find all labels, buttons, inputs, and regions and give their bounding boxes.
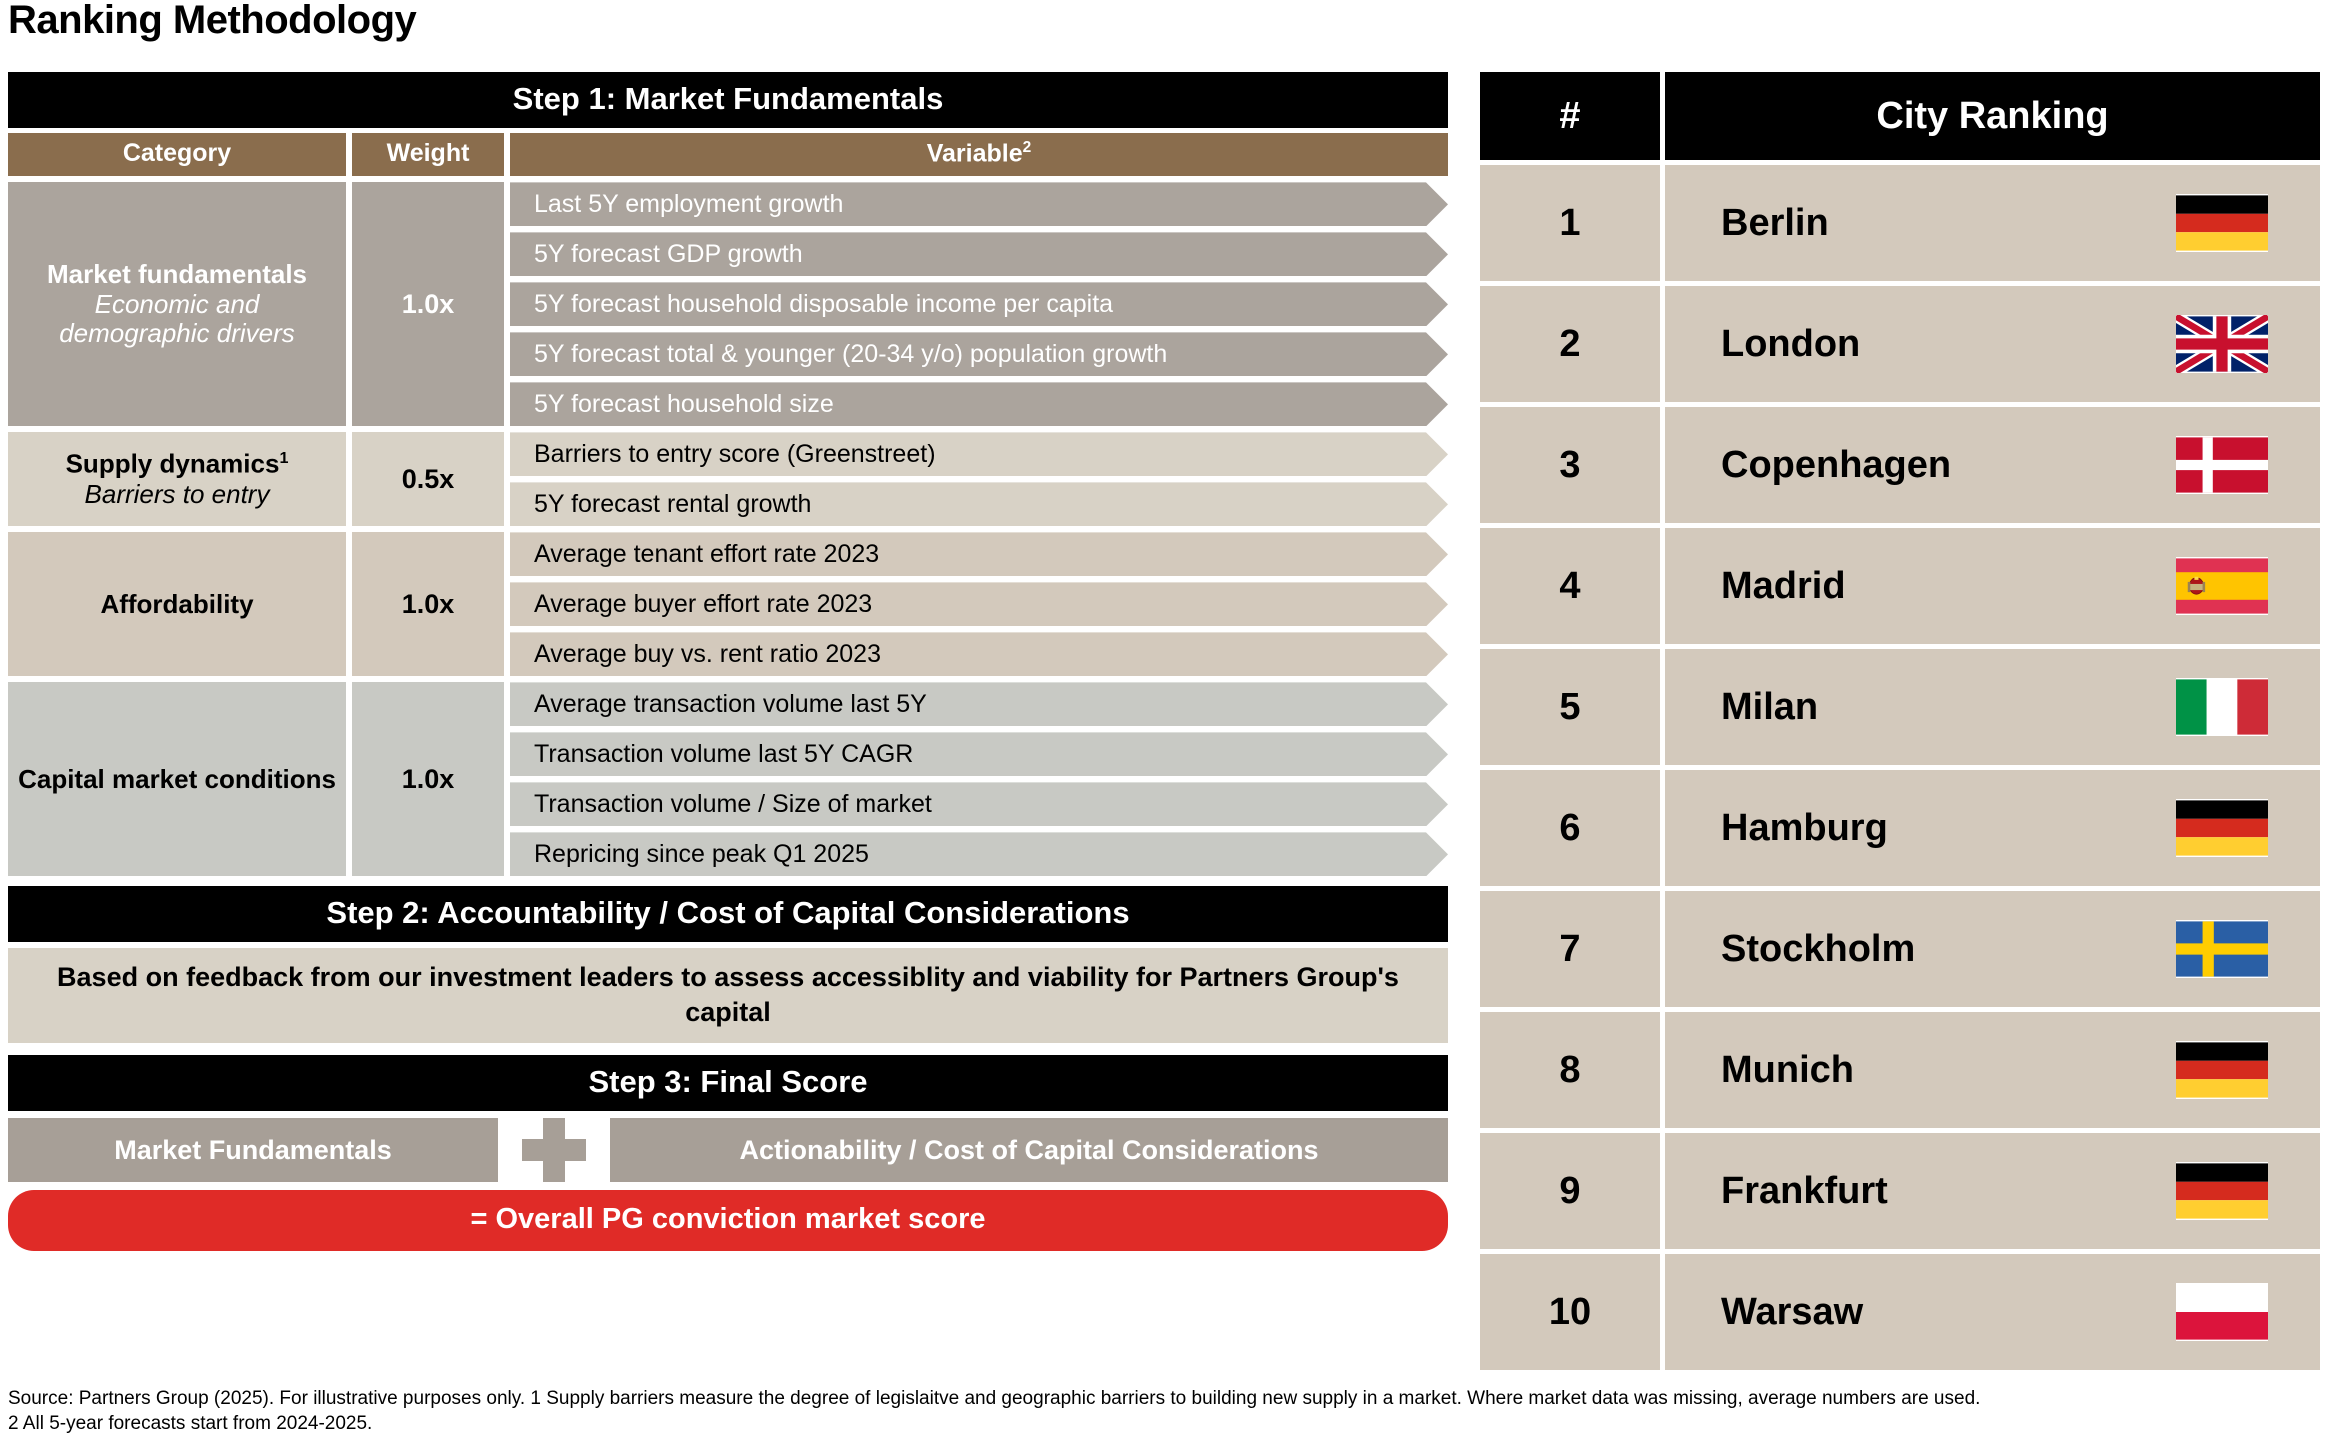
city-ranking-panel: # City Ranking 1Berlin2London3Copenhagen…	[1480, 72, 2320, 1370]
footnote-line-2: 2 All 5-year forecasts start from 2024-2…	[8, 1411, 2328, 1436]
flag-icon-italy	[2176, 678, 2268, 736]
city-name: Berlin	[1665, 165, 2320, 281]
step1-band: Step 1: Market Fundamentals	[8, 72, 1448, 128]
rank-number: 10	[1480, 1254, 1660, 1370]
footnote-marker-1: 1	[279, 449, 288, 467]
ranking-header-row: # City Ranking	[1480, 72, 2320, 160]
category-section: Supply dynamics1Barriers to entry0.5xBar…	[8, 432, 1448, 526]
step2-note: Based on feedback from our investment le…	[8, 948, 1448, 1043]
variable-arrow: 5Y forecast household disposable income …	[510, 282, 1448, 326]
column-header-variable-text: Variable	[927, 139, 1023, 167]
step3-formula: Market Fundamentals Actionability / Cost…	[8, 1118, 1448, 1182]
rank-number: 5	[1480, 649, 1660, 765]
city-name: Frankfurt	[1665, 1133, 2320, 1249]
ranking-row[interactable]: 4Madrid	[1480, 528, 2320, 644]
formula-term-actionability: Actionability / Cost of Capital Consider…	[610, 1118, 1448, 1182]
variable-arrow: 5Y forecast total & younger (20-34 y/o) …	[510, 332, 1448, 376]
ranking-row[interactable]: 2London	[1480, 286, 2320, 402]
category-subtitle: Economic and demographic drivers	[18, 290, 336, 349]
variable-arrow: 5Y forecast GDP growth	[510, 232, 1448, 276]
variable-list: Barriers to entry score (Greenstreet)5Y …	[510, 432, 1448, 526]
weight-value: 1.0x	[402, 289, 455, 320]
footnote: Source: Partners Group (2025). For illus…	[8, 1386, 2328, 1436]
ranking-row[interactable]: 1Berlin	[1480, 165, 2320, 281]
variable-arrow: Average tenant effort rate 2023	[510, 532, 1448, 576]
flag-icon-germany	[2176, 1162, 2268, 1220]
variable-arrow: Average buy vs. rent ratio 2023	[510, 632, 1448, 676]
weight-value: 1.0x	[402, 589, 455, 620]
step3-band: Step 3: Final Score	[8, 1055, 1448, 1111]
city-name: Stockholm	[1665, 891, 2320, 1007]
column-header-weight: Weight	[352, 133, 504, 176]
ranking-header-city: City Ranking	[1665, 72, 2320, 160]
category-cell: Supply dynamics1Barriers to entry	[8, 432, 346, 526]
weight-cell: 1.0x	[352, 182, 504, 426]
step1-sections: Market fundamentalsEconomic and demograp…	[8, 182, 1448, 876]
rank-number: 3	[1480, 407, 1660, 523]
variable-list: Average transaction volume last 5YTransa…	[510, 682, 1448, 876]
category-section: Capital market conditions1.0xAverage tra…	[8, 682, 1448, 876]
rank-number: 6	[1480, 770, 1660, 886]
city-name: Hamburg	[1665, 770, 2320, 886]
category-title: Supply dynamics1	[66, 449, 289, 479]
variable-arrow: 5Y forecast rental growth	[510, 482, 1448, 526]
flag-icon-germany	[2176, 799, 2268, 857]
ranking-row[interactable]: 3Copenhagen	[1480, 407, 2320, 523]
flag-icon-uk	[2176, 315, 2268, 373]
variable-arrow: 5Y forecast household size	[510, 382, 1448, 426]
rank-number: 2	[1480, 286, 1660, 402]
city-name: London	[1665, 286, 2320, 402]
step2-band: Step 2: Accountability / Cost of Capital…	[8, 886, 1448, 942]
page-title: Ranking Methodology	[8, 0, 416, 43]
ranking-row[interactable]: 9Frankfurt	[1480, 1133, 2320, 1249]
methodology-panel: Step 1: Market Fundamentals Category Wei…	[8, 72, 1448, 1251]
category-section: Affordability1.0xAverage tenant effort r…	[8, 532, 1448, 676]
rank-number: 9	[1480, 1133, 1660, 1249]
category-cell: Capital market conditions	[8, 682, 346, 876]
variable-arrow: Repricing since peak Q1 2025	[510, 832, 1448, 876]
column-header-variable: Variable2	[510, 133, 1448, 176]
footnote-line-1: Source: Partners Group (2025). For illus…	[8, 1388, 1980, 1409]
ranking-row[interactable]: 8Munich	[1480, 1012, 2320, 1128]
overall-score-bar: = Overall PG conviction market score	[8, 1190, 1448, 1251]
flag-icon-sweden	[2176, 920, 2268, 978]
rank-number: 1	[1480, 165, 1660, 281]
category-title: Capital market conditions	[18, 765, 336, 795]
ranking-rows: 1Berlin2London3Copenhagen4Madrid5Milan6H…	[1480, 165, 2320, 1370]
variable-list: Last 5Y employment growth5Y forecast GDP…	[510, 182, 1448, 426]
weight-cell: 1.0x	[352, 682, 504, 876]
column-header-category: Category	[8, 133, 346, 176]
variable-arrow: Average buyer effort rate 2023	[510, 582, 1448, 626]
ranking-row[interactable]: 10Warsaw	[1480, 1254, 2320, 1370]
city-name: Copenhagen	[1665, 407, 2320, 523]
ranking-row[interactable]: 5Milan	[1480, 649, 2320, 765]
weight-cell: 0.5x	[352, 432, 504, 526]
plus-icon	[498, 1118, 610, 1182]
ranking-header-number: #	[1480, 72, 1660, 160]
flag-icon-germany	[2176, 1041, 2268, 1099]
city-name: Madrid	[1665, 528, 2320, 644]
step1-column-headers: Category Weight Variable2	[8, 133, 1448, 176]
slide-root: Ranking Methodology Step 1: Market Funda…	[0, 0, 2334, 1438]
variable-arrow: Transaction volume last 5Y CAGR	[510, 732, 1448, 776]
variable-arrow: Transaction volume / Size of market	[510, 782, 1448, 826]
flag-icon-poland	[2176, 1283, 2268, 1341]
variable-arrow: Barriers to entry score (Greenstreet)	[510, 432, 1448, 476]
city-name: Warsaw	[1665, 1254, 2320, 1370]
formula-term-market-fundamentals: Market Fundamentals	[8, 1118, 498, 1182]
flag-icon-denmark	[2176, 436, 2268, 494]
city-name: Munich	[1665, 1012, 2320, 1128]
variable-arrow: Last 5Y employment growth	[510, 182, 1448, 226]
rank-number: 8	[1480, 1012, 1660, 1128]
flag-icon-germany	[2176, 194, 2268, 252]
category-cell: Affordability	[8, 532, 346, 676]
category-subtitle: Barriers to entry	[85, 480, 270, 510]
city-name: Milan	[1665, 649, 2320, 765]
footnote-marker-2: 2	[1023, 139, 1032, 156]
rank-number: 7	[1480, 891, 1660, 1007]
weight-cell: 1.0x	[352, 532, 504, 676]
rank-number: 4	[1480, 528, 1660, 644]
flag-icon-spain	[2176, 557, 2268, 615]
ranking-row[interactable]: 6Hamburg	[1480, 770, 2320, 886]
variable-list: Average tenant effort rate 2023Average b…	[510, 532, 1448, 676]
category-title: Affordability	[100, 590, 253, 620]
ranking-row[interactable]: 7Stockholm	[1480, 891, 2320, 1007]
variable-arrow: Average transaction volume last 5Y	[510, 682, 1448, 726]
weight-value: 1.0x	[402, 764, 455, 795]
category-title: Market fundamentals	[47, 260, 307, 290]
category-cell: Market fundamentalsEconomic and demograp…	[8, 182, 346, 426]
weight-value: 0.5x	[402, 464, 455, 495]
category-section: Market fundamentalsEconomic and demograp…	[8, 182, 1448, 426]
